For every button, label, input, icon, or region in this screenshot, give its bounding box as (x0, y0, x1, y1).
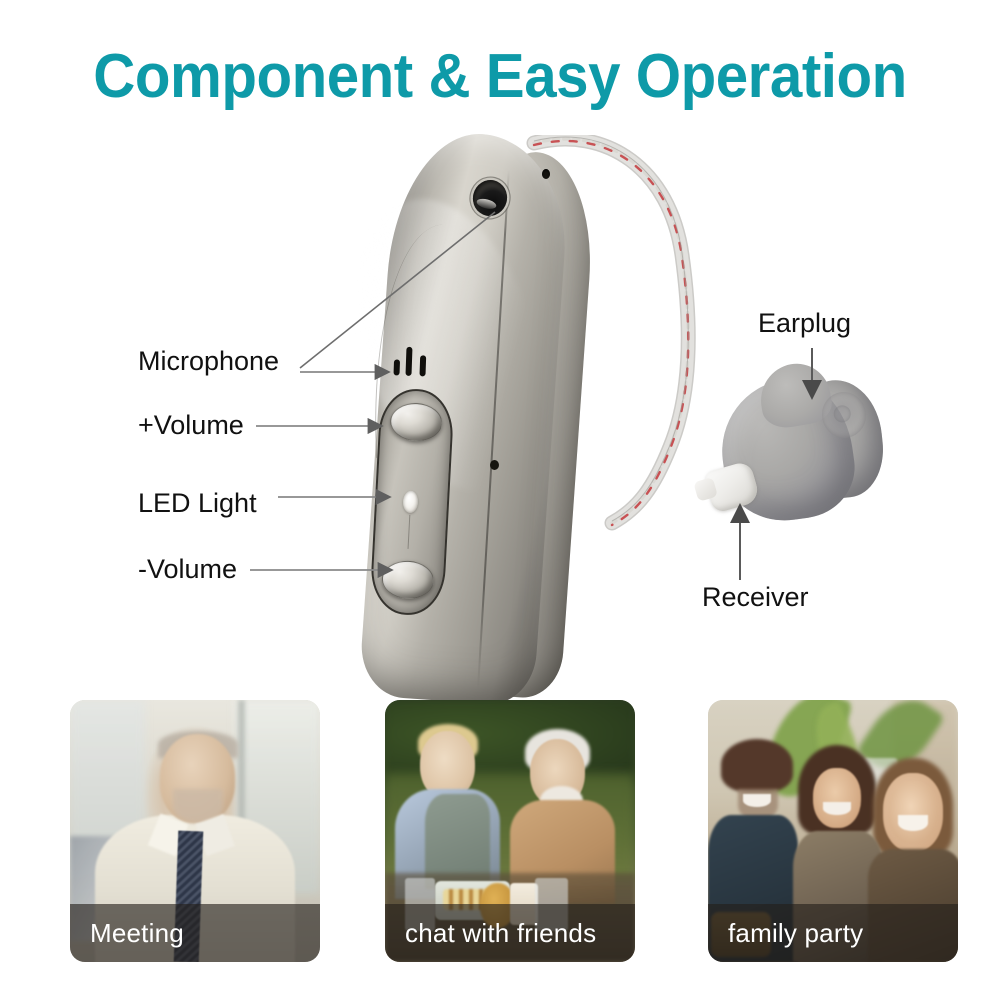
volume-up-button[interactable] (389, 402, 443, 443)
scene-card-meeting[interactable]: Meeting (70, 700, 320, 962)
scene-card-chat-with-friends[interactable]: chat with friends (385, 700, 635, 962)
earplug-dome-illustration (712, 358, 892, 530)
callout-label-led-light: LED Light (138, 490, 257, 517)
scene-caption: Meeting (70, 904, 320, 962)
led-tick-mark (408, 515, 411, 549)
scene-caption: chat with friends (385, 904, 635, 962)
page-title: Component & Easy Operation (30, 46, 970, 108)
callout-label-earplug: Earplug (758, 310, 851, 337)
volume-down-button[interactable] (381, 560, 435, 601)
side-pinhole-icon (490, 460, 499, 470)
led-light-indicator (402, 491, 418, 514)
microphone-slots-icon (393, 345, 432, 376)
callout-label-microphone: Microphone (138, 348, 279, 375)
scene-caption: family party (708, 904, 958, 962)
control-panel (369, 387, 455, 617)
infographic-canvas: Component & Easy Operation (0, 0, 1000, 1000)
callout-label-volume-up: +Volume (138, 412, 244, 439)
callout-label-volume-down: -Volume (138, 556, 237, 583)
scene-card-row: Meeting chat with friends (0, 700, 1000, 972)
scene-card-family-party[interactable]: family party (708, 700, 958, 962)
callout-label-receiver: Receiver (702, 584, 809, 611)
